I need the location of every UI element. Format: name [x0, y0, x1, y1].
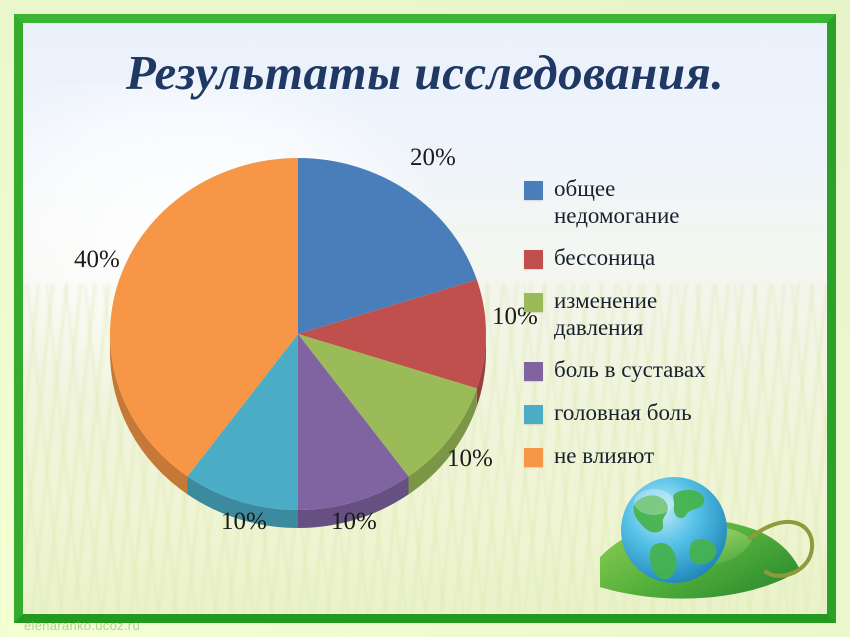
legend-swatch-blue-icon	[524, 181, 543, 200]
chart-legend: общее недомогание бессоница изменение да…	[524, 176, 738, 485]
legend-item-obshchee-nedomoganie[interactable]: общее недомогание	[524, 176, 738, 229]
globe-highlight	[634, 489, 674, 515]
legend-swatch-cyan-icon	[524, 405, 543, 424]
slide-canvas: Результаты исследования. 20% 40% 10% 10%…	[0, 0, 850, 637]
pie-label-obshchee-nedomoganie: 20%	[410, 144, 456, 172]
pie-label-bol-v-sustavah: 10%	[331, 508, 377, 536]
globe-on-leaf-decoration	[600, 452, 832, 624]
legend-item-izmenenie-davleniya[interactable]: изменение давления	[524, 288, 738, 341]
pie-chart-svg	[96, 146, 506, 546]
page-title: Результаты исследования.	[0, 44, 850, 101]
legend-label-obshchee-nedomoganie: общее недомогание	[554, 176, 738, 229]
legend-label-golovnaya-bol: головная боль	[554, 400, 692, 427]
legend-swatch-orange-icon	[524, 448, 543, 467]
legend-label-bol-v-sustavah: боль в суставах	[554, 357, 706, 384]
legend-label-bessonica: бессоница	[554, 245, 655, 272]
legend-item-bol-v-sustavah[interactable]: боль в суставах	[524, 357, 738, 384]
pie-slices	[110, 158, 486, 510]
legend-item-golovnaya-bol[interactable]: головная боль	[524, 400, 738, 427]
pie-label-golovnaya-bol: 10%	[221, 508, 267, 536]
legend-swatch-red-icon	[524, 250, 543, 269]
legend-item-bessonica[interactable]: бессоница	[524, 245, 738, 272]
legend-swatch-green-icon	[524, 293, 543, 312]
pie-label-izmenenie-davleniya: 10%	[447, 445, 493, 473]
legend-swatch-purple-icon	[524, 362, 543, 381]
legend-label-izmenenie-davleniya: изменение давления	[554, 288, 738, 341]
pie-chart	[96, 146, 506, 546]
pie-label-ne-vliyayut: 40%	[74, 246, 120, 274]
site-watermark: elenaranko.ucoz.ru	[24, 618, 140, 633]
